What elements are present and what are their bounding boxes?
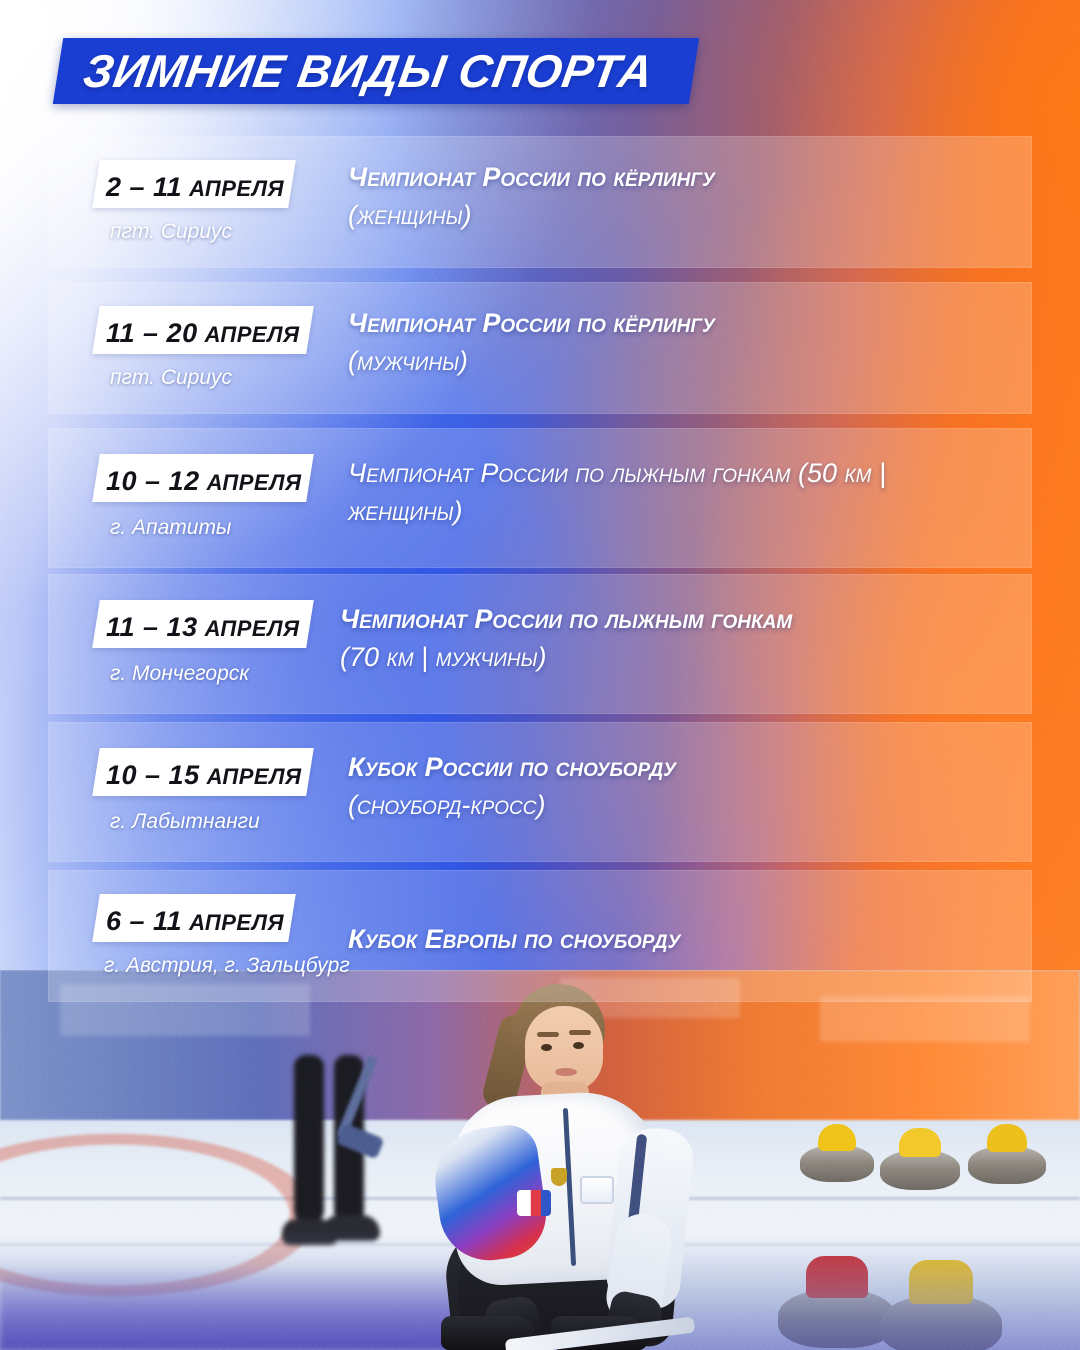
date-month: АПРЕЛЯ bbox=[189, 910, 284, 936]
date-month: АПРЕЛЯ bbox=[205, 616, 300, 642]
event-title-bold: Чемпионат России по лыжным гонкам bbox=[340, 604, 792, 634]
venue-label: г. Австрия, г. Зальцбург bbox=[104, 954, 350, 978]
event-title-bold: Чемпионат России по кёрлингу bbox=[348, 162, 715, 192]
event-title-detail: (70 км | мужчины) bbox=[340, 642, 546, 672]
date-month: АПРЕЛЯ bbox=[207, 470, 302, 496]
event-title-detail: Чемпионат России по лыжным гонкам (50 км… bbox=[348, 458, 886, 526]
venue-label: пгт. Сириус bbox=[110, 366, 232, 390]
event-title: Кубок России по сноуборду (сноуборд-крос… bbox=[348, 748, 676, 825]
page-title: ЗИМНИЕ ВИДЫ СПОРТА bbox=[79, 40, 729, 102]
event-row[interactable]: 11 – 13 АПРЕЛЯ г. Мончегорск Чемпионат Р… bbox=[48, 574, 1032, 714]
event-title: Чемпионат России по кёрлингу (мужчины) bbox=[348, 304, 715, 381]
event-title-detail: (женщины) bbox=[348, 200, 471, 230]
date-range: 10 – 15 bbox=[106, 760, 200, 791]
date-range: 10 – 12 bbox=[106, 466, 200, 497]
event-title: Чемпионат России по лыжным гонкам (70 км… bbox=[340, 600, 820, 677]
venue-label: пгт. Сириус bbox=[110, 220, 232, 244]
venue-label: г. Лабытнанги bbox=[110, 810, 260, 834]
poster-root: ЗИМНИЕ ВИДЫ СПОРТА 2 – 11 АПРЕЛЯ пгт. Си… bbox=[0, 0, 1080, 1350]
date-range: 6 – 11 bbox=[106, 906, 182, 937]
date-range: 11 – 13 bbox=[106, 612, 198, 643]
venue-label: г. Мончегорск bbox=[110, 662, 249, 686]
venue-label: г. Апатиты bbox=[110, 516, 231, 540]
event-row[interactable]: 10 – 15 АПРЕЛЯ г. Лабытнанги Кубок Росси… bbox=[48, 722, 1032, 862]
date-range: 2 – 11 bbox=[106, 172, 182, 203]
event-row[interactable]: 6 – 11 АПРЕЛЯ г. Австрия, г. Зальцбург К… bbox=[48, 870, 1032, 1002]
event-title: Кубок Европы по сноуборду bbox=[348, 920, 680, 958]
event-row[interactable]: 10 – 12 АПРЕЛЯ г. Апатиты Чемпионат Росс… bbox=[48, 428, 1032, 568]
event-title-bold: Чемпионат России по кёрлингу bbox=[348, 308, 715, 338]
date-month: АПРЕЛЯ bbox=[189, 176, 284, 202]
event-title: Чемпионат России по лыжным гонкам (50 км… bbox=[348, 454, 988, 531]
event-title-bold: Кубок Европы по сноуборду bbox=[348, 924, 680, 954]
date-month: АПРЕЛЯ bbox=[205, 322, 300, 348]
event-title-bold: Кубок России по сноуборду bbox=[348, 752, 676, 782]
date-range: 11 – 20 bbox=[106, 318, 198, 349]
event-row[interactable]: 2 – 11 АПРЕЛЯ пгт. Сириус Чемпионат Росс… bbox=[48, 136, 1032, 268]
event-title: Чемпионат России по кёрлингу (женщины) bbox=[348, 158, 715, 235]
event-row[interactable]: 11 – 20 АПРЕЛЯ пгт. Сириус Чемпионат Рос… bbox=[48, 282, 1032, 414]
event-title-detail: (мужчины) bbox=[348, 346, 468, 376]
event-title-detail: (сноуборд-кросс) bbox=[348, 790, 545, 820]
date-month: АПРЕЛЯ bbox=[207, 764, 302, 790]
